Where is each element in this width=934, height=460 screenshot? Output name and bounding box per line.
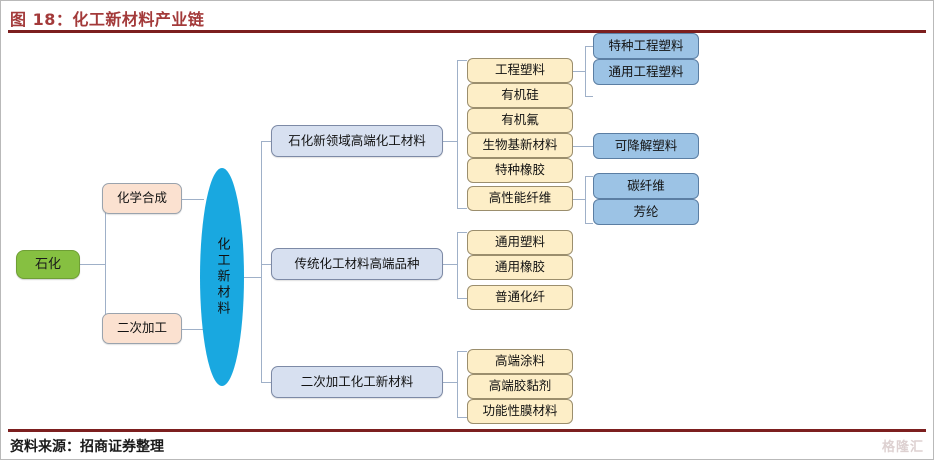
connector-groupb-top (457, 232, 467, 233)
connector-groupa-top (457, 60, 467, 61)
connector-groupb-bottom (457, 298, 467, 299)
connector-l2b-stub (443, 264, 457, 265)
connector-groupc-bottom (457, 417, 467, 418)
node-secondary-processing-materials[interactable]: 二次加工化工新材料 (271, 366, 443, 398)
connector-groupc-top (457, 351, 467, 352)
connector-hub-to-l2-b (261, 264, 271, 265)
node-secondary-processing[interactable]: 二次加工 (102, 313, 182, 344)
node-high-end-coatings[interactable]: 高端涂料 (467, 349, 573, 374)
node-general-rubber[interactable]: 通用橡胶 (467, 255, 573, 280)
node-general-plastics[interactable]: 通用塑料 (467, 230, 573, 255)
node-carbon-fiber[interactable]: 碳纤维 (593, 173, 699, 199)
connector-hub-to-l2-a (261, 141, 271, 142)
connector-plastics-spine (585, 46, 586, 96)
connector-processing-to-hub (182, 329, 204, 330)
connector-hub-spine (261, 141, 262, 382)
node-aramid[interactable]: 芳纶 (593, 199, 699, 225)
hub-label: 化工新材料 (216, 237, 229, 317)
connector-root-spine (105, 199, 106, 329)
node-traditional-high-end-varieties[interactable]: 传统化工材料高端品种 (271, 248, 443, 280)
connector-l2c-stub (443, 382, 457, 383)
node-petrochem-high-end-materials[interactable]: 石化新领域高端化工材料 (271, 125, 443, 157)
footer-divider (8, 429, 926, 432)
node-special-engineering-plastics[interactable]: 特种工程塑料 (593, 33, 699, 59)
connector-root-stub (80, 264, 105, 265)
node-bio-based-materials[interactable]: 生物基新材料 (467, 133, 573, 158)
node-chemical-synthesis[interactable]: 化学合成 (102, 183, 182, 214)
connector-groupa-spine (457, 60, 458, 208)
node-engineering-plastics[interactable]: 工程塑料 (467, 58, 573, 83)
connector-groupb-spine (457, 232, 458, 298)
node-special-rubber[interactable]: 特种橡胶 (467, 158, 573, 183)
connector-fiber-spine (585, 176, 586, 223)
connector-plastics-top (585, 46, 593, 47)
connector-groupc-spine (457, 351, 458, 417)
connector-fiber-top (585, 176, 593, 177)
connector-fiber-stub (573, 199, 585, 200)
connector-hub-stub (243, 277, 261, 278)
figure-canvas: 图 18：化工新材料产业链 石化 化学合成 二次加工 化工新材料 (0, 0, 934, 460)
source-note: 资料来源：招商证券整理 (10, 436, 164, 456)
node-organosilicon[interactable]: 有机硅 (467, 83, 573, 108)
connector-plastics-bottom (585, 96, 593, 97)
connector-fiber-bottom (585, 223, 593, 224)
connector-l2a-stub (443, 141, 457, 142)
node-high-performance-fiber[interactable]: 高性能纤维 (467, 186, 573, 211)
node-root-petrochemical[interactable]: 石化 (16, 250, 80, 279)
connector-plastics-stub (573, 71, 585, 72)
connector-groupa-bottom (457, 208, 467, 209)
connector-hub-to-l2-c (261, 382, 271, 383)
connector-synthesis-to-hub (182, 199, 204, 200)
node-functional-film-materials[interactable]: 功能性膜材料 (467, 399, 573, 424)
title-divider (8, 30, 926, 33)
node-ordinary-chemical-fiber[interactable]: 普通化纤 (467, 285, 573, 310)
page-title: 图 18：化工新材料产业链 (10, 6, 204, 30)
node-degradable-plastics[interactable]: 可降解塑料 (593, 133, 699, 159)
node-general-engineering-plastics[interactable]: 通用工程塑料 (593, 59, 699, 85)
node-hub-new-chemical-materials[interactable]: 化工新材料 (200, 168, 244, 386)
node-high-end-adhesives[interactable]: 高端胶黏剂 (467, 374, 573, 399)
connector-bio-to-degradable (573, 146, 593, 147)
node-organofluorine[interactable]: 有机氟 (467, 108, 573, 133)
watermark-logo: 格隆汇 (882, 436, 924, 455)
